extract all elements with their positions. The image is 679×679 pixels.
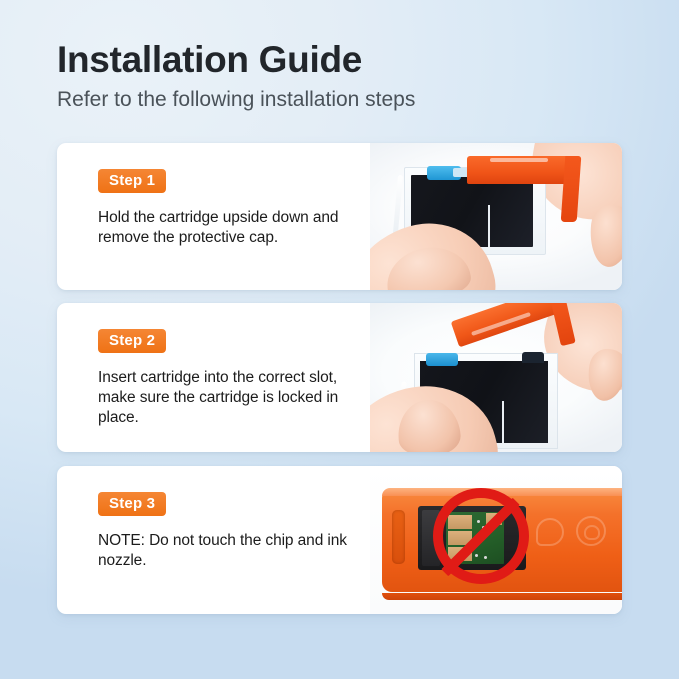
step-3-badge: Step 3 [98,492,166,516]
step-1-text-panel: Step 1 Hold the cartridge upside down an… [57,143,370,290]
step-2-description: Insert cartridge into the correct slot, … [98,368,350,428]
step-1-description: Hold the cartridge upside down and remov… [98,208,350,248]
blue-clip-icon [426,353,458,366]
cartridge-grip [392,510,405,564]
step-2-text-panel: Step 2 Insert cartridge into the correct… [57,303,370,452]
step-card-3: Step 3 NOTE: Do not touch the chip and i… [57,466,622,614]
step-2-badge: Step 2 [98,329,166,353]
step-3-description: NOTE: Do not touch the chip and ink nozz… [98,531,350,571]
cap-highlight [490,158,548,162]
step-3-photo [370,466,622,614]
page-subtitle: Refer to the following installation step… [57,87,617,113]
step-card-1: Step 1 Hold the cartridge upside down an… [57,143,622,290]
step-2-photo [370,303,622,452]
embossed-drop-icon [536,518,564,546]
cartridge-bottom-edge [382,593,622,600]
header: Installation Guide Refer to the followin… [57,38,617,113]
step-3-text-panel: Step 3 NOTE: Do not touch the chip and i… [57,466,370,614]
step-1-badge: Step 1 [98,169,166,193]
embossed-recycle-icon [576,516,606,546]
ink-window-divider [502,401,504,443]
page-title: Installation Guide [57,38,617,82]
step-card-2: Step 2 Insert cartridge into the correct… [57,303,622,452]
installation-guide-page: Installation Guide Refer to the followin… [0,0,679,679]
step-1-photo [370,143,622,290]
cartridge-nub [522,352,544,363]
ink-window-divider [488,205,490,247]
